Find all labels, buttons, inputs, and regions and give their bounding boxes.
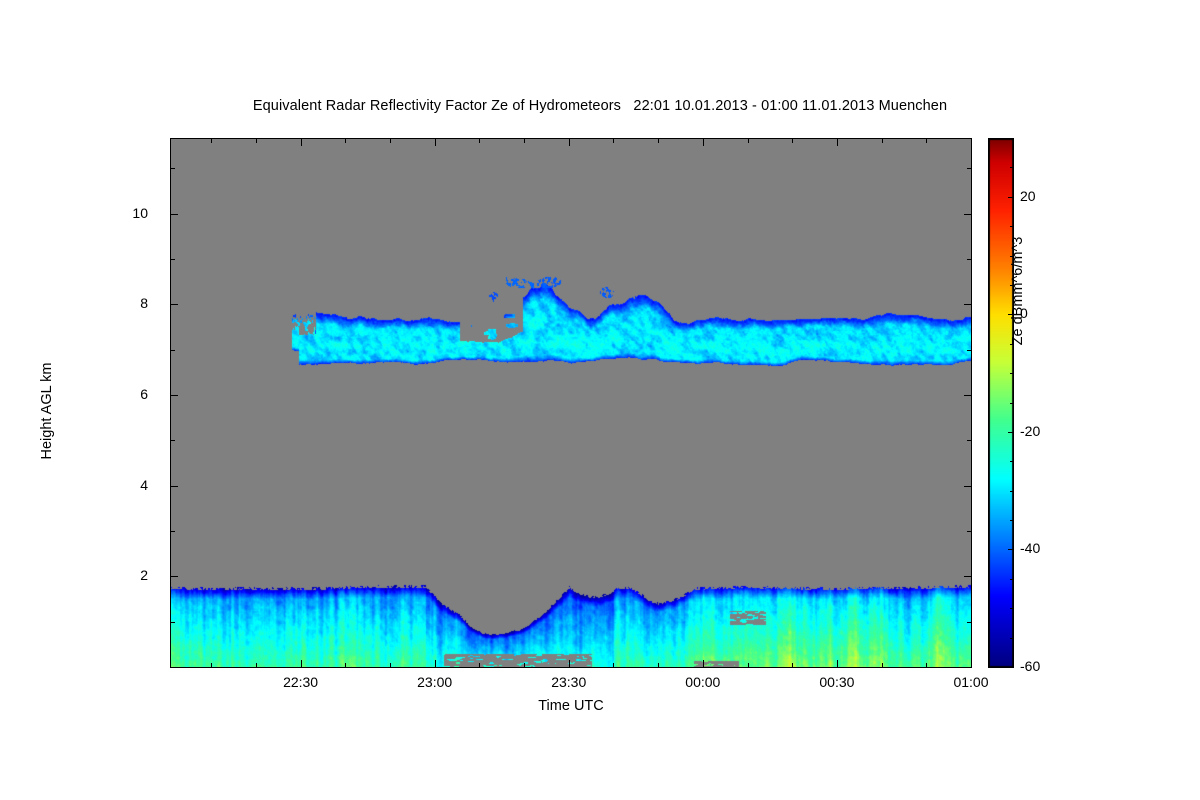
x-tick-label-00-00: 00:00 (658, 674, 748, 690)
y-tick-4km (171, 486, 178, 487)
x-tick-top-10min (211, 139, 212, 143)
x-tick-40min (345, 663, 346, 667)
y-tick-8km (171, 304, 178, 305)
colorbar-tick--35 (1010, 520, 1013, 521)
y-tick-right-1km (967, 622, 971, 623)
x-tick-top-100min (613, 139, 614, 143)
x-tick-label-22-30: 22:30 (256, 674, 346, 690)
x-tick-150min (837, 660, 838, 667)
x-tick-top-120min (703, 139, 704, 146)
x-tick-120min (703, 660, 704, 667)
y-tick-9km (171, 259, 175, 260)
x-tick-top-180min (971, 139, 972, 146)
y-tick-right-7km (967, 350, 971, 351)
plot-area (170, 138, 972, 668)
figure-title: Equivalent Radar Reflectivity Factor Ze … (0, 98, 1200, 114)
y-tick-right-3km (967, 531, 971, 532)
y-tick-right-10km (964, 214, 971, 215)
x-tick-20min (256, 663, 257, 667)
reflectivity-heatmap (171, 139, 971, 667)
x-tick-top-50min (390, 139, 391, 143)
colorbar-tick--40 (1008, 549, 1013, 550)
y-tick-3km (171, 531, 175, 532)
y-tick-right-4km (964, 486, 971, 487)
x-tick-10min (211, 663, 212, 667)
y-tick-label-8km: 8 (0, 295, 148, 311)
colorbar-tick--20 (1008, 432, 1013, 433)
y-tick-right-6km (964, 395, 971, 396)
colorbar-tick-25 (1010, 167, 1013, 168)
x-tick-top-40min (345, 139, 346, 143)
x-tick-top-130min (748, 139, 749, 143)
x-tick-top-30min (301, 139, 302, 146)
x-tick-top-60min (435, 139, 436, 146)
x-tick-top-150min (837, 139, 838, 146)
colorbar-tick--50 (1010, 608, 1013, 609)
x-tick-label-00-30: 00:30 (792, 674, 882, 690)
x-axis-title: Time UTC (170, 698, 972, 714)
x-tick-50min (390, 663, 391, 667)
colorbar-title: Ze dBmm^6/m^3 (1010, 171, 1026, 411)
colorbar-tick--55 (1010, 638, 1013, 639)
x-tick-80min (524, 663, 525, 667)
x-tick-160min (882, 663, 883, 667)
x-tick-label-23-30: 23:30 (524, 674, 614, 690)
x-tick-110min (658, 663, 659, 667)
x-tick-90min (569, 660, 570, 667)
x-tick-top-20min (256, 139, 257, 143)
x-tick-170min (926, 663, 927, 667)
y-tick-2km (171, 576, 178, 577)
colorbar-label--40: -40 (1020, 540, 1040, 556)
y-axis-title: Height AGL km (39, 311, 55, 511)
y-tick-label-6km: 6 (0, 386, 148, 402)
x-tick-top-110min (658, 139, 659, 143)
y-tick-label-4km: 4 (0, 477, 148, 493)
y-tick-1km (171, 622, 175, 623)
x-tick-100min (613, 663, 614, 667)
x-tick-140min (792, 663, 793, 667)
x-tick-top-90min (569, 139, 570, 146)
x-tick-130min (748, 663, 749, 667)
colorbar-tick--60 (1008, 667, 1013, 668)
x-tick-180min (971, 660, 972, 667)
y-tick-right-8km (964, 304, 971, 305)
radar-reflectivity-figure: Equivalent Radar Reflectivity Factor Ze … (0, 0, 1200, 800)
colorbar-label--60: -60 (1020, 658, 1040, 674)
y-tick-right-11km (967, 168, 971, 169)
x-tick-top-170min (926, 139, 927, 143)
colorbar-tick--25 (1010, 461, 1013, 462)
x-tick-top-80min (524, 139, 525, 143)
y-tick-label-10km: 10 (0, 205, 148, 221)
x-tick-60min (435, 660, 436, 667)
x-tick-70min (479, 663, 480, 667)
x-tick-top-140min (792, 139, 793, 143)
y-tick-right-2km (964, 576, 971, 577)
y-tick-10km (171, 214, 178, 215)
x-tick-30min (301, 660, 302, 667)
colorbar-tick-30 (1010, 138, 1013, 139)
colorbar-tick--30 (1010, 491, 1013, 492)
y-tick-11km (171, 168, 175, 169)
y-tick-6km (171, 395, 178, 396)
x-tick-label-01-00: 01:00 (926, 674, 1016, 690)
y-tick-right-5km (967, 440, 971, 441)
x-tick-label-23-00: 23:00 (390, 674, 480, 690)
y-tick-right-9km (967, 259, 971, 260)
colorbar-tick--45 (1010, 579, 1013, 580)
y-tick-7km (171, 350, 175, 351)
y-tick-label-2km: 2 (0, 567, 148, 583)
x-tick-top-70min (479, 139, 480, 143)
y-tick-5km (171, 440, 175, 441)
x-tick-top-160min (882, 139, 883, 143)
colorbar-label--20: -20 (1020, 423, 1040, 439)
